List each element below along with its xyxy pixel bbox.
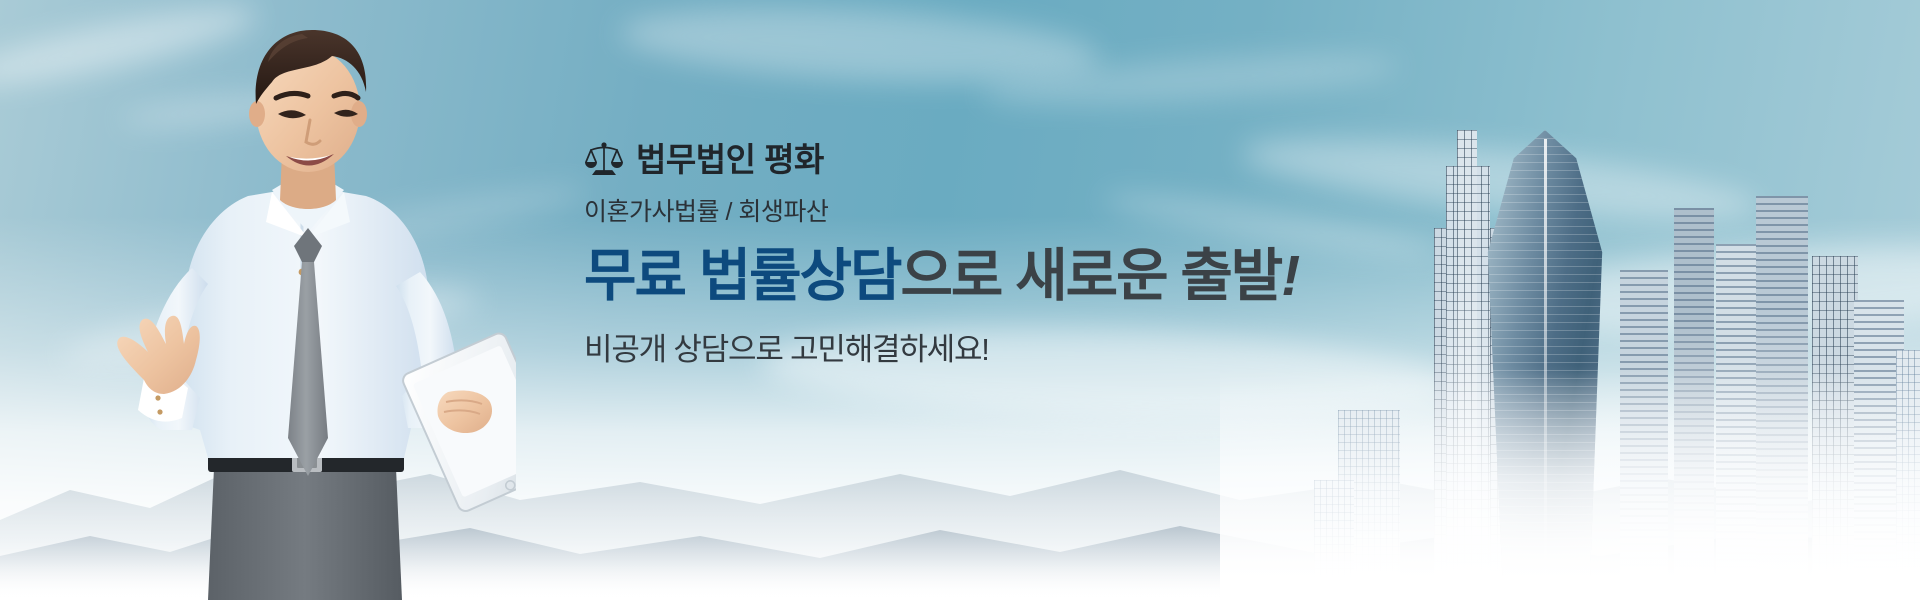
banner-copy-block: 법무법인 평화 이혼가사법률 / 회생파산 무료 법률상담으로 새로운 출발! … [584,140,1364,369]
brand-lockup: 법무법인 평화 [584,140,1364,178]
legal-service-hero-banner: 법무법인 평화 이혼가사법률 / 회생파산 무료 법률상담으로 새로운 출발! … [0,0,1920,600]
tagline: 비공개 상담으로 고민해결하세요! [584,324,1364,369]
businessman-photo [96,0,516,600]
practice-areas-label: 이혼가사법률 / 회생파산 [584,192,1364,228]
headline-plain: 으로 새로운 출발 [900,244,1281,308]
headline-accent: 무료 법률상담 [584,244,900,308]
scales-of-justice-icon [584,140,624,178]
brand-name: 법무법인 평화 [636,143,824,176]
city-base-haze [1220,370,1920,600]
headline-exclamation: ! [1281,244,1298,308]
headline: 무료 법률상담으로 새로운 출발! [584,246,1364,308]
